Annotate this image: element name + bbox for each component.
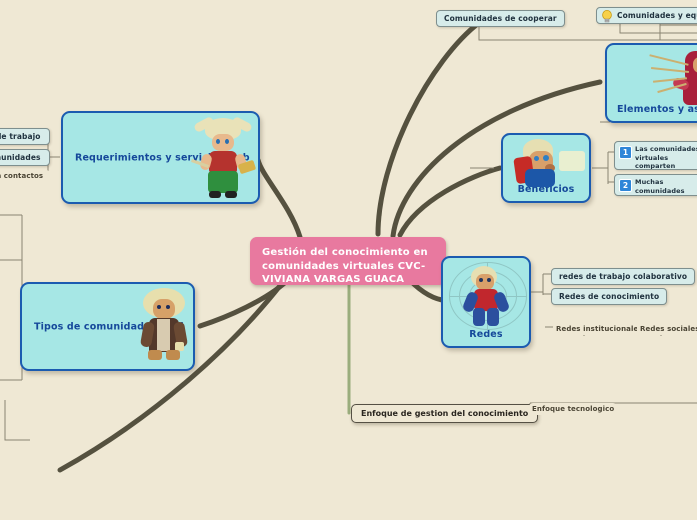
subnode-comunidades-de-cooperar[interactable]: Comunidades de cooperar (436, 10, 565, 27)
branch-beneficios (400, 168, 500, 235)
subnode-comunidades-y-equipos-label: Comunidades y equipos de (617, 11, 697, 20)
node-requerimientos[interactable]: Requerimientos y servicios web (61, 111, 260, 204)
root-node[interactable]: Gestión del conocimiento en comunidades … (250, 237, 446, 285)
subnode-redes-trabajo-colaborativo[interactable]: redes de trabajo colaborativo (551, 268, 695, 285)
branch-top (378, 22, 480, 234)
mindmap-canvas: Gestión del conocimiento en comunidades … (0, 0, 697, 520)
character-superhero-image (515, 139, 587, 187)
character-red-ninja-image (649, 49, 697, 105)
node-elementos-aspectos[interactable]: Elementos y aspectos (605, 43, 697, 123)
subnode-comunidades[interactable]: omunidades (0, 149, 50, 166)
subnode-redes-de-conocimiento[interactable]: Redes de conocimiento (551, 288, 667, 305)
link-left-bracket-top (0, 215, 22, 260)
node-redes[interactable]: Redes (441, 256, 531, 348)
subnode-beneficio-1[interactable]: 1 Las comunidades virtuales comparten in… (614, 141, 697, 170)
subnode-acceso-a-contactos[interactable]: o a contactos (0, 170, 50, 182)
subnode-grupo-de-trabajo[interactable]: o de trabajo (0, 128, 50, 145)
link-left-bracket-tail (5, 400, 30, 440)
number-badge-1: 1 (619, 146, 632, 159)
subnode-enfoque-tecnologico[interactable]: Enfoque tecnologico (529, 403, 617, 415)
character-warrior-image (191, 118, 255, 200)
subnode-beneficio-2[interactable]: 2 Muchas comunidades estan dirigidas a i… (614, 174, 697, 196)
node-enfoque-gestion[interactable]: Enfoque de gestion del conocimiento (351, 404, 538, 423)
subnode-beneficio-1-label: Las comunidades virtuales comparten info… (635, 145, 697, 170)
subnode-redes-institucionales[interactable]: Redes institucionales (553, 323, 646, 335)
root-line-1: Gestión del conocimiento en (262, 246, 434, 260)
root-line-2: comunidades virtuales CVC- (262, 260, 434, 274)
subnode-comunidades-y-equipos[interactable]: Comunidades y equipos de (596, 7, 697, 24)
node-elementos-aspectos-label: Elementos y aspectos (617, 104, 697, 115)
branch-requerimientos (258, 160, 300, 237)
character-monk-image (135, 288, 193, 368)
subnode-beneficio-2-label: Muchas comunidades estan dirigidas a inf… (635, 178, 697, 196)
node-beneficios[interactable]: Beneficios (501, 133, 591, 203)
number-badge-2: 2 (619, 179, 632, 192)
link-top-rail-a (479, 26, 660, 40)
character-spider-image (449, 262, 527, 334)
subnode-redes-sociales[interactable]: Redes sociales (637, 323, 697, 335)
node-tipos-comunidad[interactable]: Tipos de comunidad virtual (20, 282, 195, 371)
root-line-3: VIVIANA VARGAS GUACA (262, 273, 434, 287)
lightbulb-icon (601, 10, 613, 23)
